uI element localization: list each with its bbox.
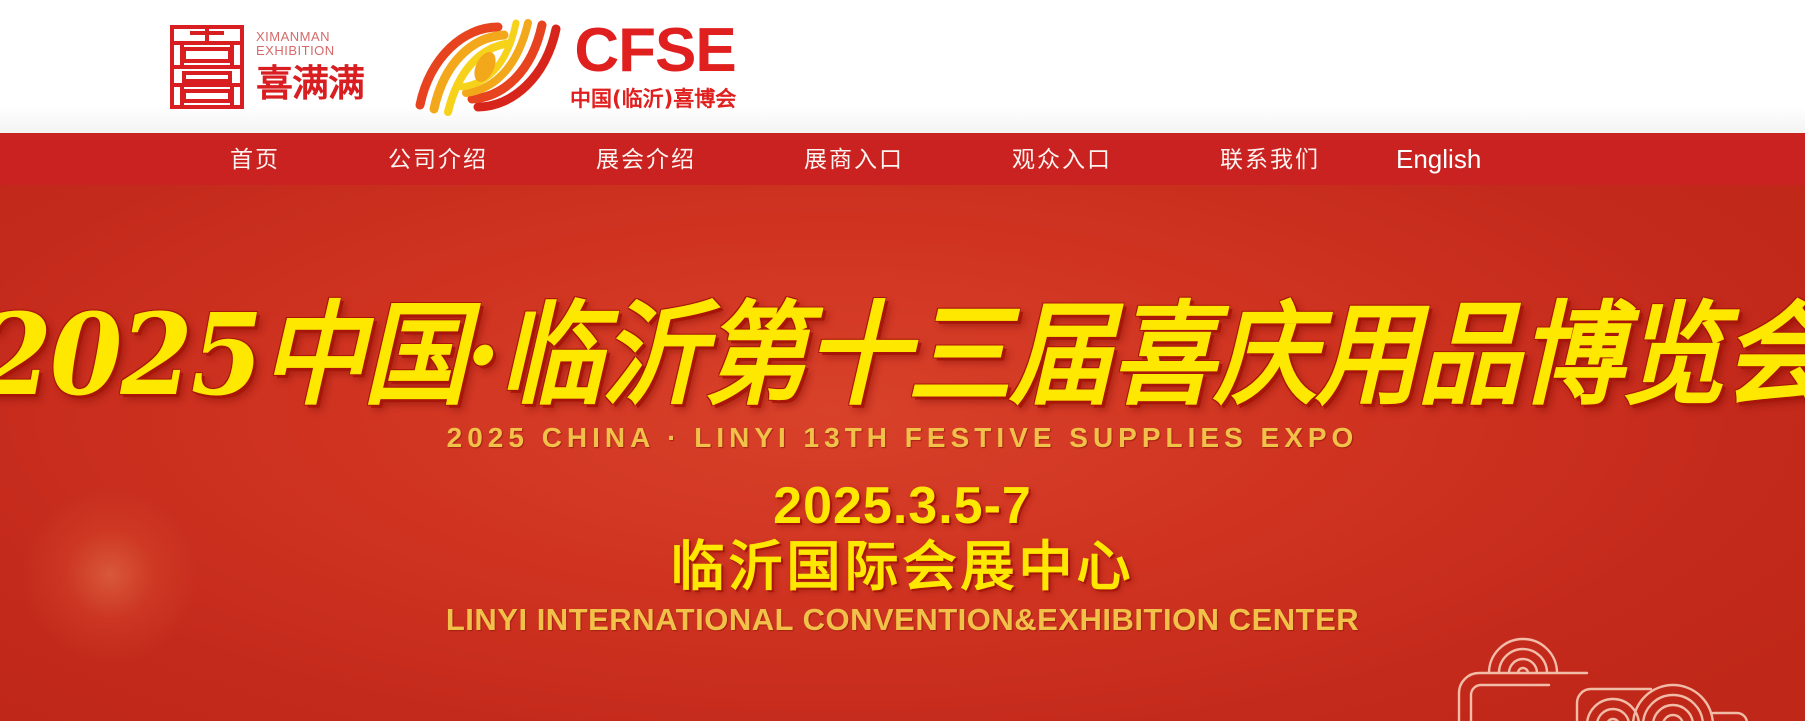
page-root: XIMANMAN EXHIBITION 喜满满 xyxy=(0,0,1805,721)
ximanman-en-line1: XIMANMAN xyxy=(256,30,374,44)
cfse-text-block: CFSE 中国(临沂)喜博会 xyxy=(570,21,740,112)
ximanman-cn-name: 喜满满 xyxy=(256,63,374,103)
nav-item-visitor[interactable]: 观众入口 xyxy=(1012,146,1112,172)
ximanman-text: XIMANMAN EXHIBITION 喜满满 xyxy=(256,30,374,103)
nav-item-english[interactable]: English xyxy=(1396,146,1481,172)
svg-text:中国(临沂)喜博会: 中国(临沂)喜博会 xyxy=(570,87,736,111)
cfse-swoosh-icon xyxy=(412,17,564,117)
hero-banner: 2025中国·临沂第十三届喜庆用品博览会 2025 CHINA · LINYI … xyxy=(0,185,1805,721)
hero-title-en: 2025 CHINA · LINYI 13TH FESTIVE SUPPLIES… xyxy=(447,423,1359,453)
nav-item-expo-intro[interactable]: 展会介绍 xyxy=(596,146,696,172)
svg-text:喜满满: 喜满满 xyxy=(256,63,364,103)
ximanman-logo[interactable]: XIMANMAN EXHIBITION 喜满满 xyxy=(168,23,374,111)
logo-group: XIMANMAN EXHIBITION 喜满满 xyxy=(168,17,740,117)
hero-date: 2025.3.5-7 xyxy=(773,479,1032,533)
ximanman-en-line2: EXHIBITION xyxy=(256,44,374,58)
nav-item-contact[interactable]: 联系我们 xyxy=(1220,146,1320,172)
nav-item-exhibitor[interactable]: 展商入口 xyxy=(804,146,904,172)
main-navigation: 首页 公司介绍 展会介绍 展商入口 观众入口 联系我们 English xyxy=(0,133,1805,185)
hero-title-cn: 2025中国·临沂第十三届喜庆用品博览会 xyxy=(0,299,1805,411)
cfse-logo[interactable]: CFSE 中国(临沂)喜博会 xyxy=(412,17,740,117)
hero-content: 2025中国·临沂第十三届喜庆用品博览会 2025 CHINA · LINYI … xyxy=(0,185,1805,721)
nav-items: 首页 公司介绍 展会介绍 展商入口 观众入口 联系我们 English xyxy=(230,146,1481,172)
cfse-subtitle: 中国(临沂)喜博会 xyxy=(570,84,740,112)
site-header: XIMANMAN EXHIBITION 喜满满 xyxy=(0,0,1805,133)
hero-venue-cn: 临沂国际会展中心 xyxy=(671,537,1135,597)
hero-venue-en: LINYI INTERNATIONAL CONVENTION&EXHIBITIO… xyxy=(446,603,1359,637)
nav-item-home[interactable]: 首页 xyxy=(230,146,280,172)
cfse-wordmark: CFSE xyxy=(574,21,735,81)
nav-item-company[interactable]: 公司介绍 xyxy=(388,146,488,172)
ximanman-seal-icon xyxy=(168,23,246,111)
